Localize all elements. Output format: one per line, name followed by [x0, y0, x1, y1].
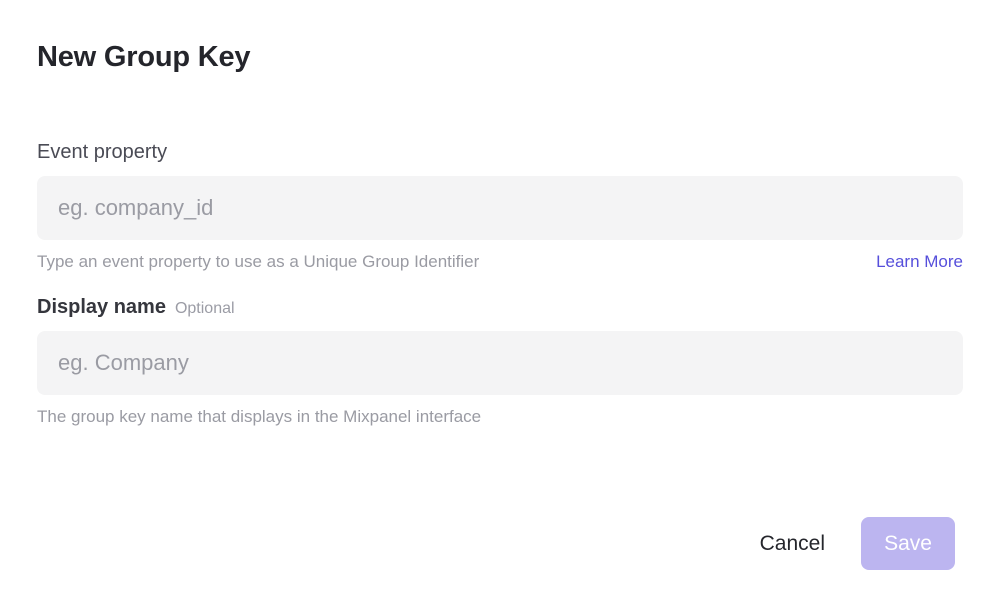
field-label-row: Display name Optional: [37, 295, 963, 319]
display-name-optional-tag: Optional: [175, 299, 235, 319]
cancel-button[interactable]: Cancel: [760, 517, 825, 570]
dialog-body: Event property Type an event property to…: [37, 140, 963, 450]
learn-more-link[interactable]: Learn More: [876, 251, 963, 273]
page-title: New Group Key: [37, 38, 250, 76]
field-label-row: Event property: [37, 140, 963, 164]
field-footer: Type an event property to use as a Uniqu…: [37, 251, 963, 273]
display-name-help-text: The group key name that displays in the …: [37, 406, 481, 428]
field-event-property: Event property Type an event property to…: [37, 140, 963, 273]
field-footer: The group key name that displays in the …: [37, 406, 963, 428]
save-button[interactable]: Save: [861, 517, 955, 570]
field-display-name: Display name Optional The group key name…: [37, 295, 963, 428]
display-name-input[interactable]: [37, 331, 963, 395]
display-name-label: Display name: [37, 295, 166, 319]
event-property-label: Event property: [37, 140, 167, 164]
new-group-key-dialog: New Group Key Event property Type an eve…: [0, 0, 1000, 608]
event-property-help-text: Type an event property to use as a Uniqu…: [37, 251, 479, 273]
event-property-input[interactable]: [37, 176, 963, 240]
dialog-header: New Group Key: [37, 38, 250, 76]
dialog-footer: Cancel Save: [760, 517, 955, 570]
